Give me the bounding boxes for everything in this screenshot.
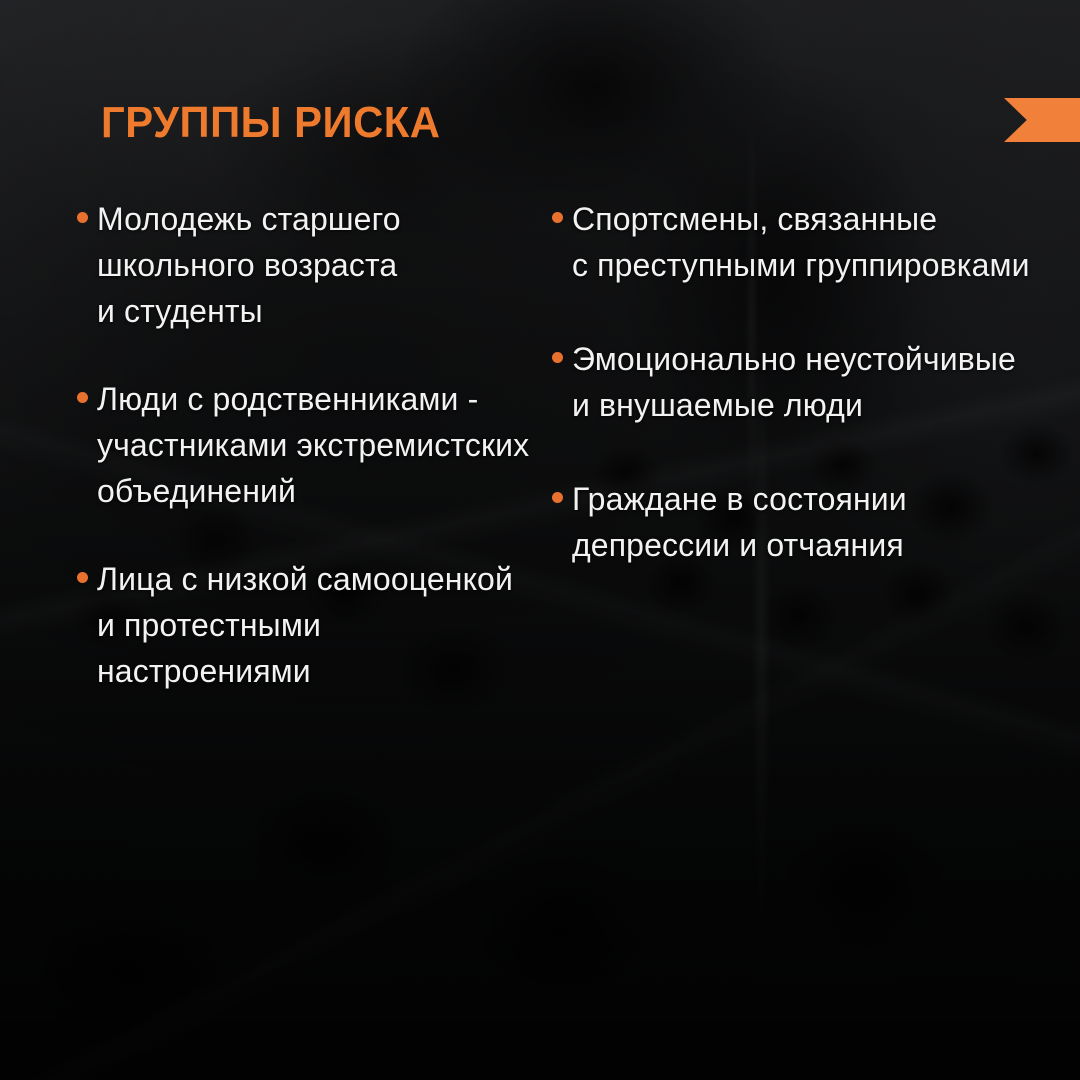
bullet-dot-icon [552,212,563,223]
bullet-dot-icon [552,492,563,503]
list-item: Спортсмены, связанные с преступными груп… [547,196,1047,288]
risk-groups-poster: ГРУППЫ РИСКА Молодежь старшего школьного… [0,0,1080,1080]
ribbon-banner-icon [1004,98,1080,142]
bullet-dot-icon [77,572,88,583]
list-item-label: Граждане в состоянии депрессии и отчаяни… [572,476,1047,568]
bullet-dot-icon [77,212,88,223]
list-item: Эмоционально неустойчивые и внушаемые лю… [547,336,1047,428]
list-item-label: Молодежь старшего школьного возраста и с… [97,196,542,334]
bullet-dot-icon [552,352,563,363]
list-item-label: Эмоционально неустойчивые и внушаемые лю… [572,336,1047,428]
list-item-label: Люди с родственниками - участниками экст… [97,376,542,514]
list-item-label: Лица с низкой самооценкой и протестными … [97,556,542,694]
poster-content: ГРУППЫ РИСКА Молодежь старшего школьного… [0,0,1080,1080]
list-item: Люди с родственниками - участниками экст… [72,376,542,514]
list-item: Лица с низкой самооценкой и протестными … [72,556,542,694]
list-item-label: Спортсмены, связанные с преступными груп… [572,196,1047,288]
risk-groups-column-left: Молодежь старшего школьного возраста и с… [72,196,542,736]
page-title: ГРУППЫ РИСКА [101,98,440,148]
list-item: Граждане в состоянии депрессии и отчаяни… [547,476,1047,568]
list-item: Молодежь старшего школьного возраста и с… [72,196,542,334]
bullet-dot-icon [77,392,88,403]
risk-groups-column-right: Спортсмены, связанные с преступными груп… [547,196,1047,616]
